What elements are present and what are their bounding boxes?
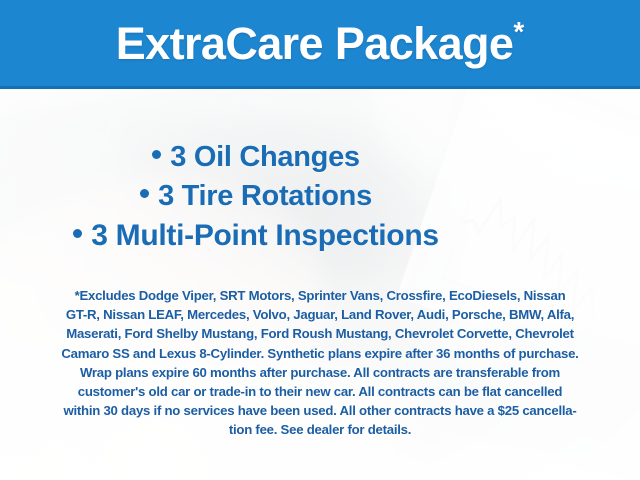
bullet-dot-icon (73, 229, 82, 238)
extracare-package-banner: ExtraCare Package* 3 Oil Changes 3 Tire … (0, 0, 640, 480)
disclaimer-line: tion fee. See dealer for details. (28, 420, 612, 439)
benefit-item-oil-changes: 3 Oil Changes (0, 138, 512, 177)
bullet-dot-icon (140, 189, 149, 198)
benefit-item-tire-rotations: 3 Tire Rotations (0, 177, 512, 216)
page-title-asterisk: * (513, 16, 524, 47)
disclaimer-line: customer's old car or trade-in to their … (28, 382, 612, 401)
disclaimer-line: Wrap plans expire 60 months after purcha… (28, 363, 612, 382)
page-title-text: ExtraCare Package (116, 18, 514, 69)
disclaimer-line: Maserati, Ford Shelby Mustang, Ford Rous… (28, 324, 612, 343)
benefit-label: 3 Multi-Point Inspections (91, 219, 439, 252)
benefit-label: 3 Oil Changes (170, 141, 360, 173)
benefit-label: 3 Tire Rotations (158, 180, 372, 212)
benefits-list: 3 Oil Changes 3 Tire Rotations 3 Multi-P… (0, 138, 640, 255)
disclaimer-line: GT-R, Nissan LEAF, Mercedes, Volvo, Jagu… (28, 305, 612, 324)
page-title: ExtraCare Package* (116, 18, 524, 66)
disclaimer-text: *Excludes Dodge Viper, SRT Motors, Sprin… (28, 286, 612, 440)
benefit-item-multi-point-inspections: 3 Multi-Point Inspections (0, 216, 512, 255)
disclaimer-line: Camaro SS and Lexus 8-Cylinder. Syntheti… (28, 344, 612, 363)
disclaimer-line: within 30 days if no services have been … (28, 401, 612, 420)
header-band: ExtraCare Package* (0, 0, 640, 89)
bullet-dot-icon (152, 150, 161, 159)
disclaimer-line: *Excludes Dodge Viper, SRT Motors, Sprin… (28, 286, 612, 305)
